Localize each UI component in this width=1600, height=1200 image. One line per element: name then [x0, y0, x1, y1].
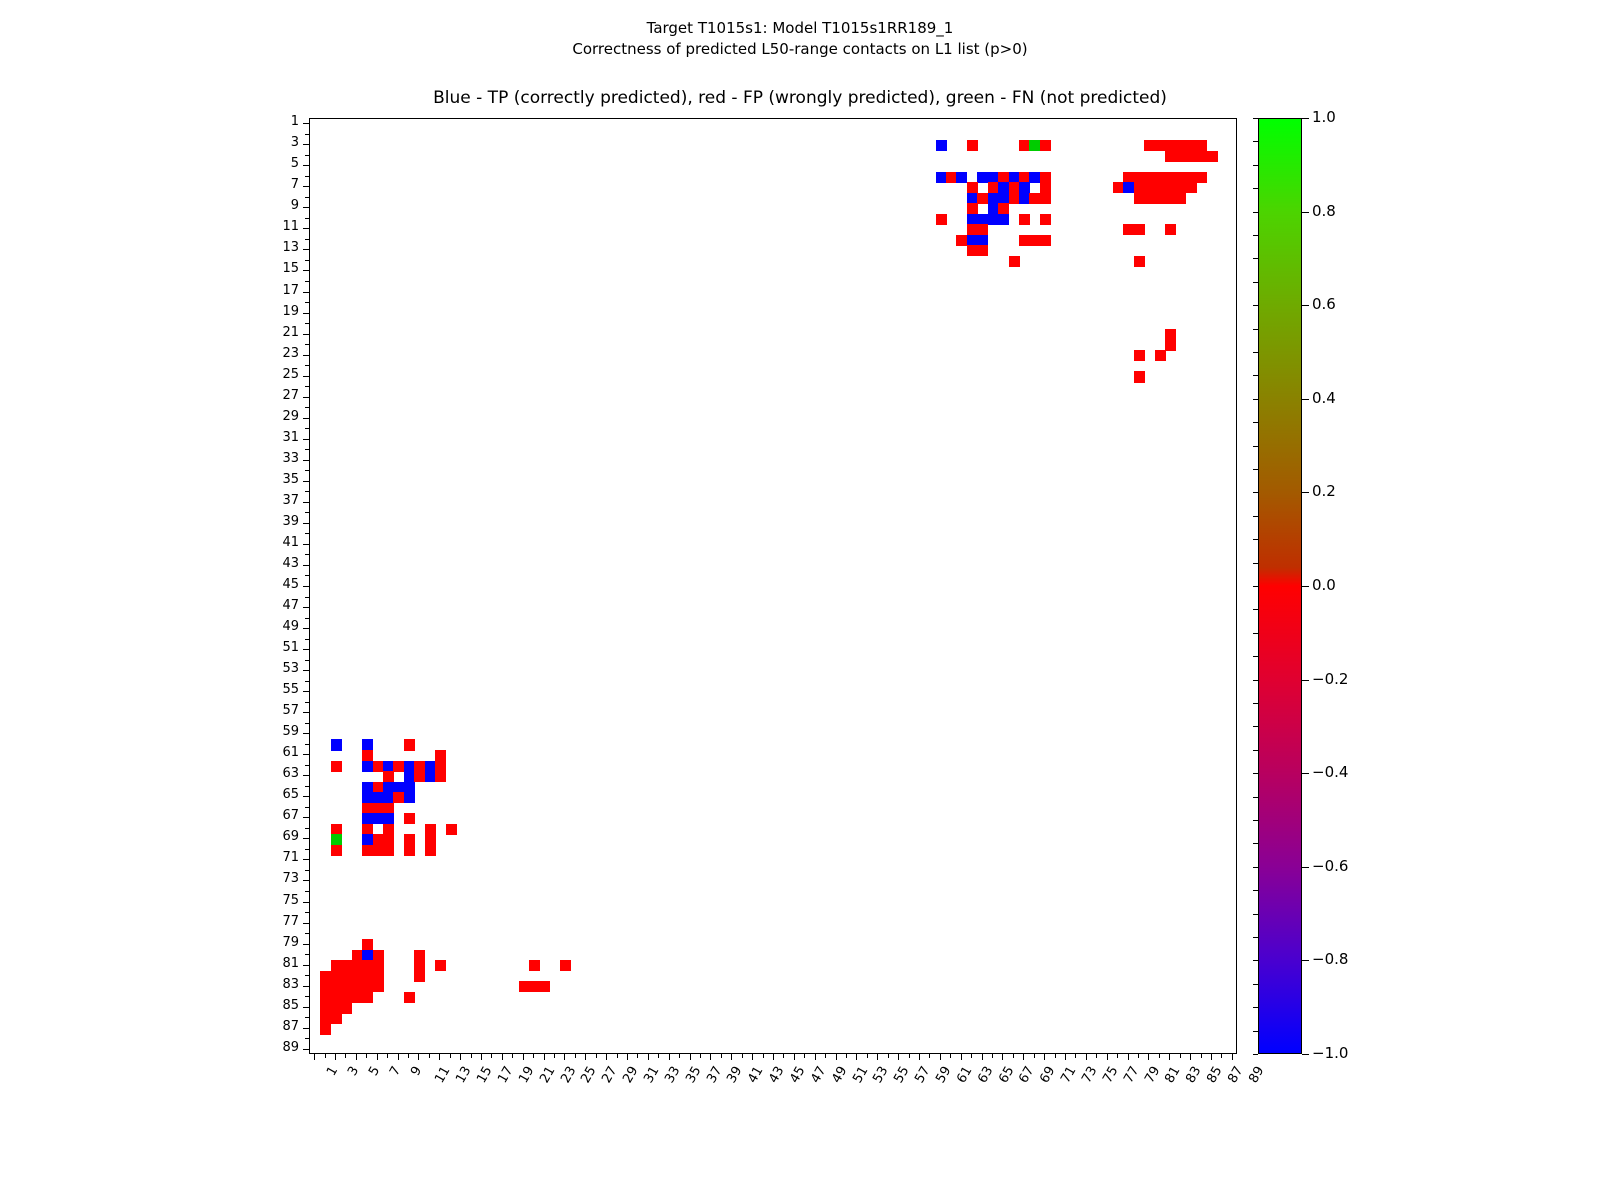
contact-map-plot [309, 118, 1237, 1054]
y-axis-tick [303, 902, 309, 903]
heatmap-cell [1019, 214, 1030, 225]
x-axis-tick [1211, 1054, 1212, 1060]
colorbar-tick [1302, 399, 1309, 400]
y-axis-label: 27 [239, 390, 299, 402]
y-axis-tick [303, 165, 309, 166]
x-axis-label: 55 [892, 1064, 913, 1086]
x-axis-label: 33 [662, 1064, 683, 1086]
colorbar-tick-label: 0.6 [1312, 297, 1336, 312]
y-axis-tick [305, 870, 309, 871]
y-axis-tick [305, 765, 309, 766]
heatmap-cell [1019, 182, 1030, 193]
y-axis-label: 75 [239, 895, 299, 907]
heatmap-cell [373, 834, 384, 845]
y-axis-label: 23 [239, 348, 299, 360]
y-axis-label: 35 [239, 474, 299, 486]
heatmap-cell [331, 1002, 342, 1013]
y-axis-label: 9 [239, 200, 299, 212]
y-axis-tick [305, 470, 309, 471]
heatmap-cell [362, 960, 373, 971]
y-axis-tick [303, 544, 309, 545]
x-axis-tick [491, 1054, 492, 1058]
x-axis-label: 65 [996, 1064, 1017, 1086]
heatmap-cell [383, 845, 394, 856]
y-axis-tick [305, 155, 309, 156]
heatmap-cell [383, 782, 394, 793]
heatmap-cell [1207, 151, 1218, 162]
heatmap-cell [362, 739, 373, 750]
heatmap-cell [998, 182, 1009, 193]
y-axis-tick [303, 670, 309, 671]
heatmap-cell [435, 761, 446, 772]
x-axis-label: 25 [579, 1064, 600, 1086]
x-axis-label: 15 [474, 1064, 495, 1086]
heatmap-cell [998, 193, 1009, 204]
y-axis-tick [303, 649, 309, 650]
y-axis-tick [303, 712, 309, 713]
x-axis-tick [345, 1054, 346, 1058]
heatmap-cell [1029, 140, 1040, 151]
y-axis-label: 41 [239, 537, 299, 549]
y-axis-tick [305, 239, 309, 240]
heatmap-cell [1019, 140, 1030, 151]
x-axis-tick [1055, 1054, 1056, 1058]
x-axis-tick [825, 1054, 826, 1058]
heatmap-cell [320, 981, 331, 992]
y-axis-tick [305, 533, 309, 534]
x-axis-tick [564, 1054, 565, 1060]
heatmap-cell [362, 845, 373, 856]
heatmap-cell [1040, 182, 1051, 193]
x-axis-tick [783, 1054, 784, 1058]
y-axis-tick [303, 607, 309, 608]
x-axis-label: 63 [975, 1064, 996, 1086]
x-axis-label: 13 [454, 1064, 475, 1086]
heatmap-cell [425, 834, 436, 845]
heatmap-cell [936, 214, 947, 225]
x-axis-tick [585, 1054, 586, 1060]
heatmap-cell-layer [310, 119, 1236, 1053]
x-axis-tick [1013, 1054, 1014, 1058]
y-axis-tick [303, 586, 309, 587]
heatmap-cell [446, 824, 457, 835]
y-axis-label: 31 [239, 432, 299, 444]
heatmap-cell [404, 792, 415, 803]
y-axis-label: 45 [239, 579, 299, 591]
y-axis-tick [303, 775, 309, 776]
heatmap-cell [425, 845, 436, 856]
y-axis-tick [305, 744, 309, 745]
y-axis-tick [305, 723, 309, 724]
heatmap-cell [435, 771, 446, 782]
x-axis-label: 61 [954, 1064, 975, 1086]
x-axis-tick [1044, 1054, 1045, 1060]
y-axis-tick [303, 292, 309, 293]
y-axis-tick [303, 1049, 309, 1050]
y-axis-tick [305, 954, 309, 955]
heatmap-cell [362, 950, 373, 961]
x-axis-label: 81 [1163, 1064, 1184, 1086]
heatmap-cell [404, 813, 415, 824]
heatmap-cell [331, 761, 342, 772]
y-axis-tick [305, 491, 309, 492]
x-axis-tick [679, 1054, 680, 1058]
x-axis-tick [888, 1054, 889, 1058]
heatmap-cell [352, 950, 363, 961]
x-axis-tick [898, 1054, 899, 1060]
heatmap-cell [373, 971, 384, 982]
y-axis-tick [303, 923, 309, 924]
heatmap-cell [1165, 151, 1176, 162]
heatmap-cell [1144, 182, 1155, 193]
y-axis-tick [305, 702, 309, 703]
y-axis-tick [303, 228, 309, 229]
colorbar-tick-label: 0.2 [1312, 484, 1336, 499]
y-axis-tick [303, 460, 309, 461]
x-axis-label: 43 [766, 1064, 787, 1086]
heatmap-cell [404, 992, 415, 1003]
heatmap-cell [341, 992, 352, 1003]
heatmap-cell [331, 824, 342, 835]
x-axis-tick [596, 1054, 597, 1058]
x-axis-tick [721, 1054, 722, 1058]
x-axis-label: 71 [1058, 1064, 1079, 1086]
heatmap-cell [977, 172, 988, 183]
heatmap-cell [967, 214, 978, 225]
x-axis-tick [1065, 1054, 1066, 1060]
heatmap-cell [425, 771, 436, 782]
y-axis-label: 33 [239, 453, 299, 465]
x-axis-tick [836, 1054, 837, 1060]
x-axis-label: 57 [912, 1064, 933, 1086]
x-axis-tick [1190, 1054, 1191, 1060]
heatmap-cell [320, 1023, 331, 1034]
colorbar-tick [1302, 118, 1309, 119]
heatmap-cell [1009, 256, 1020, 267]
heatmap-cell [341, 960, 352, 971]
heatmap-cell [1123, 224, 1134, 235]
y-axis-tick [305, 218, 309, 219]
y-axis-tick [305, 912, 309, 913]
x-axis-tick [763, 1054, 764, 1058]
heatmap-cell [414, 761, 425, 772]
heatmap-cell [529, 981, 540, 992]
x-axis-tick [846, 1054, 847, 1058]
x-axis-tick [950, 1054, 951, 1058]
heatmap-cell [435, 750, 446, 761]
heatmap-cell [1186, 172, 1197, 183]
x-axis-tick [325, 1054, 326, 1058]
y-axis-label: 1 [239, 116, 299, 128]
x-axis-tick [1221, 1054, 1222, 1058]
y-axis-tick [305, 344, 309, 345]
x-axis-label: 79 [1142, 1064, 1163, 1086]
y-axis-tick [303, 186, 309, 187]
x-axis-label: 69 [1038, 1064, 1059, 1086]
heatmap-cell [967, 235, 978, 246]
x-axis-tick [940, 1054, 941, 1060]
heatmap-cell [331, 960, 342, 971]
y-axis-tick [303, 355, 309, 356]
x-axis-tick [377, 1054, 378, 1060]
x-axis-tick [752, 1054, 753, 1060]
heatmap-cell [362, 761, 373, 772]
heatmap-cell [1134, 224, 1145, 235]
heatmap-cell [373, 761, 384, 772]
heatmap-cell [1165, 193, 1176, 204]
x-axis-label: 9 [408, 1064, 425, 1079]
heatmap-cell [1144, 172, 1155, 183]
x-axis-label: 27 [600, 1064, 621, 1086]
heatmap-cell [988, 214, 999, 225]
x-axis-label: 49 [829, 1064, 850, 1086]
heatmap-cell [1134, 172, 1145, 183]
heatmap-cell [373, 981, 384, 992]
y-axis-tick [303, 691, 309, 692]
y-axis-label: 21 [239, 327, 299, 339]
heatmap-cell [362, 824, 373, 835]
heatmap-cell [414, 950, 425, 961]
heatmap-cell [1040, 214, 1051, 225]
y-axis-label: 61 [239, 747, 299, 759]
x-axis-tick [606, 1054, 607, 1060]
x-axis-tick [418, 1054, 419, 1060]
x-axis-tick [429, 1054, 430, 1058]
x-axis-tick [856, 1054, 857, 1060]
heatmap-cell [1186, 151, 1197, 162]
x-axis-label: 75 [1100, 1064, 1121, 1086]
heatmap-cell [1186, 182, 1197, 193]
heatmap-cell [331, 971, 342, 982]
x-axis-tick [1002, 1054, 1003, 1060]
y-axis-label: 49 [239, 621, 299, 633]
y-axis-label: 67 [239, 810, 299, 822]
heatmap-cell [539, 981, 550, 992]
heatmap-cell [998, 172, 1009, 183]
heatmap-cell [362, 992, 373, 1003]
y-axis-tick [303, 249, 309, 250]
y-axis-label: 11 [239, 221, 299, 233]
x-axis-label: 87 [1225, 1064, 1246, 1086]
heatmap-cell [393, 792, 404, 803]
heatmap-cell [977, 235, 988, 246]
y-axis-tick [305, 134, 309, 135]
heatmap-cell [383, 803, 394, 814]
y-axis-label: 13 [239, 242, 299, 254]
heatmap-cell [977, 193, 988, 204]
heatmap-cell [988, 203, 999, 214]
x-axis-label: 39 [725, 1064, 746, 1086]
y-axis-tick [303, 418, 309, 419]
x-axis-label: 1 [324, 1064, 341, 1079]
y-axis-tick [303, 376, 309, 377]
legend-description: Blue - TP (correctly predicted), red - F… [0, 88, 1600, 108]
heatmap-cell [998, 214, 1009, 225]
x-axis-tick [617, 1054, 618, 1058]
x-axis-label: 29 [620, 1064, 641, 1086]
heatmap-cell [1175, 140, 1186, 151]
y-axis-tick [305, 849, 309, 850]
colorbar-tick [1302, 212, 1309, 213]
x-axis-tick [335, 1054, 336, 1060]
x-axis-tick [1075, 1054, 1076, 1058]
y-axis-tick [303, 144, 309, 145]
y-axis-label: 79 [239, 937, 299, 949]
heatmap-cell [331, 739, 342, 750]
heatmap-cell [320, 971, 331, 982]
heatmap-cell [1040, 172, 1051, 183]
x-axis-tick [961, 1054, 962, 1060]
colorbar-tick-label: −0.8 [1312, 952, 1348, 967]
y-axis-label: 69 [239, 831, 299, 843]
y-axis-tick [303, 313, 309, 314]
heatmap-cell [977, 224, 988, 235]
heatmap-cell [967, 245, 978, 256]
heatmap-cell [341, 981, 352, 992]
y-axis-tick [305, 260, 309, 261]
heatmap-cell [1196, 151, 1207, 162]
heatmap-cell [956, 172, 967, 183]
y-axis-label: 65 [239, 789, 299, 801]
x-axis-label: 67 [1017, 1064, 1038, 1086]
heatmap-cell [373, 803, 384, 814]
x-axis-tick [544, 1054, 545, 1060]
heatmap-cell [1165, 172, 1176, 183]
y-axis-label: 19 [239, 306, 299, 318]
x-axis-label: 17 [495, 1064, 516, 1086]
y-axis-tick [305, 639, 309, 640]
heatmap-cell [1009, 172, 1020, 183]
heatmap-cell [352, 960, 363, 971]
x-axis-label: 47 [808, 1064, 829, 1086]
heatmap-cell [383, 761, 394, 772]
heatmap-cell [373, 813, 384, 824]
y-axis-tick [305, 975, 309, 976]
x-axis-tick [1232, 1054, 1233, 1060]
x-axis-label: 3 [345, 1064, 362, 1079]
y-axis-tick [303, 796, 309, 797]
colorbar-tick-label: −0.6 [1312, 859, 1348, 874]
heatmap-cell [1196, 140, 1207, 151]
y-axis-tick [305, 197, 309, 198]
heatmap-cell [362, 834, 373, 845]
y-axis-tick [303, 754, 309, 755]
heatmap-cell [383, 834, 394, 845]
y-axis-tick [305, 428, 309, 429]
heatmap-cell [331, 834, 342, 845]
x-axis-tick [554, 1054, 555, 1058]
y-axis-tick [305, 365, 309, 366]
heatmap-cell [320, 992, 331, 1003]
heatmap-cell [373, 792, 384, 803]
heatmap-cell [383, 792, 394, 803]
y-axis-tick [303, 334, 309, 335]
x-axis-tick [1159, 1054, 1160, 1058]
y-axis-tick [303, 880, 309, 881]
heatmap-cell [988, 172, 999, 183]
y-axis-label: 7 [239, 179, 299, 191]
y-axis-label: 57 [239, 705, 299, 717]
x-axis-label: 77 [1121, 1064, 1142, 1086]
heatmap-cell [1155, 140, 1166, 151]
y-axis-tick [305, 807, 309, 808]
heatmap-cell [352, 981, 363, 992]
y-axis-label: 5 [239, 158, 299, 170]
heatmap-cell [341, 971, 352, 982]
heatmap-cell [519, 981, 530, 992]
y-axis-tick [305, 575, 309, 576]
y-axis-tick [305, 1038, 309, 1039]
y-axis-label: 47 [239, 600, 299, 612]
y-axis-label: 81 [239, 958, 299, 970]
colorbar-tick-label: 0.4 [1312, 391, 1336, 406]
heatmap-cell [1144, 140, 1155, 151]
y-axis-label: 37 [239, 495, 299, 507]
heatmap-cell [1165, 340, 1176, 351]
x-axis-tick [1180, 1054, 1181, 1058]
y-axis-tick [303, 123, 309, 124]
y-axis-tick [303, 986, 309, 987]
y-axis-tick [303, 817, 309, 818]
x-axis-label: 23 [558, 1064, 579, 1086]
y-axis-tick [305, 512, 309, 513]
heatmap-cell [1175, 172, 1186, 183]
x-axis-label: 73 [1079, 1064, 1100, 1086]
heatmap-cell [946, 172, 957, 183]
y-axis-tick [303, 439, 309, 440]
x-axis-label: 21 [537, 1064, 558, 1086]
heatmap-cell [404, 739, 415, 750]
heatmap-cell [1113, 182, 1124, 193]
heatmap-cell [1009, 193, 1020, 204]
heatmap-cell [1040, 193, 1051, 204]
x-axis-tick [690, 1054, 691, 1060]
x-axis-tick [742, 1054, 743, 1058]
heatmap-cell [331, 981, 342, 992]
heatmap-cell [362, 939, 373, 950]
heatmap-cell [1029, 235, 1040, 246]
x-axis-tick [669, 1054, 670, 1060]
y-axis-label: 73 [239, 873, 299, 885]
x-axis-tick [512, 1054, 513, 1058]
heatmap-cell [936, 140, 947, 151]
y-axis-label: 71 [239, 852, 299, 864]
heatmap-cell [425, 824, 436, 835]
x-axis-label: 37 [704, 1064, 725, 1086]
colorbar-container [1258, 118, 1302, 1054]
x-axis-tick [408, 1054, 409, 1058]
x-axis-label: 89 [1246, 1064, 1267, 1086]
x-axis-tick [637, 1054, 638, 1058]
heatmap-cell [320, 1002, 331, 1013]
colorbar-tick [1302, 492, 1309, 493]
x-axis-tick [481, 1054, 482, 1060]
heatmap-cell [1134, 371, 1145, 382]
heatmap-cell [1009, 182, 1020, 193]
heatmap-cell [404, 782, 415, 793]
chart-title-block: Target T1015s1: Model T1015s1RR189_1 Cor… [0, 18, 1600, 60]
heatmap-cell [988, 193, 999, 204]
y-axis-tick [305, 996, 309, 997]
heatmap-cell [977, 214, 988, 225]
x-axis-tick [1086, 1054, 1087, 1060]
heatmap-cell [1155, 172, 1166, 183]
heatmap-cell [1175, 193, 1186, 204]
x-axis-label: 45 [787, 1064, 808, 1086]
heatmap-cell [1175, 182, 1186, 193]
heatmap-cell [362, 971, 373, 982]
heatmap-cell [352, 992, 363, 1003]
